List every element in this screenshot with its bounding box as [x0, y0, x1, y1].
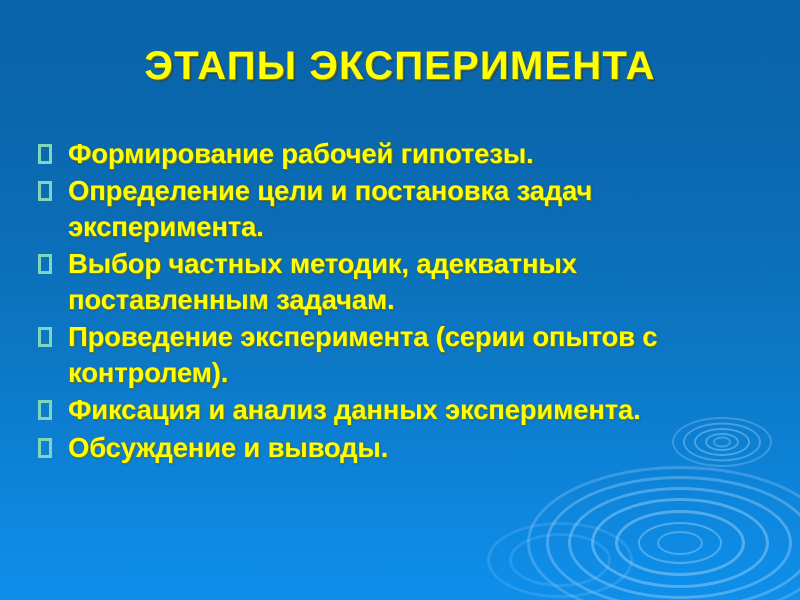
list-item: Проведение эксперимента (серии опытов с …: [38, 319, 768, 390]
square-bullet-icon: [38, 438, 52, 458]
list-item: Определение цели и постановка задач эксп…: [38, 173, 768, 244]
list-item-label: Обсуждение и выводы.: [68, 430, 768, 465]
list-item: Фиксация и анализ данных эксперимента.: [38, 392, 768, 427]
presentation-slide: ЭТАПЫ ЭКСПЕРИМЕНТА Формирование рабочей …: [0, 0, 800, 600]
square-bullet-icon: [38, 254, 52, 274]
square-bullet-icon: [38, 181, 52, 201]
list-item-label: Фиксация и анализ данных эксперимента.: [68, 392, 768, 427]
list-item-label: Проведение эксперимента (серии опытов с …: [68, 319, 768, 390]
list-item-label: Формирование рабочей гипотезы.: [68, 136, 768, 171]
list-item: Обсуждение и выводы.: [38, 430, 768, 465]
slide-title: ЭТАПЫ ЭКСПЕРИМЕНТА: [0, 44, 800, 88]
list-item: Формирование рабочей гипотезы.: [38, 136, 768, 171]
slide-bullet-list: Формирование рабочей гипотезы. Определен…: [38, 136, 768, 467]
list-item: Выбор частных методик, адекватных постав…: [38, 246, 768, 317]
list-item-label: Определение цели и постановка задач эксп…: [68, 173, 768, 244]
square-bullet-icon: [38, 327, 52, 347]
list-item-label: Выбор частных методик, адекватных постав…: [68, 246, 768, 317]
square-bullet-icon: [38, 400, 52, 420]
square-bullet-icon: [38, 144, 52, 164]
